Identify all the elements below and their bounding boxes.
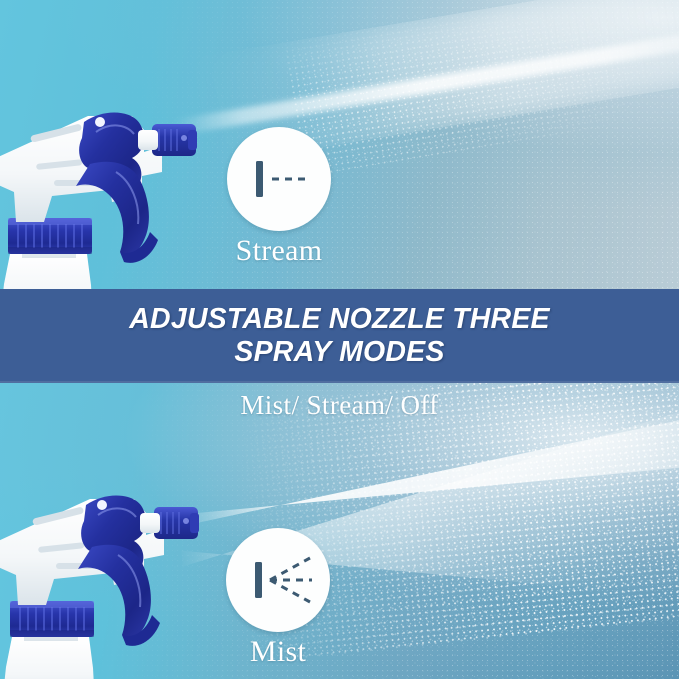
trigger-pivot-dot bbox=[95, 117, 105, 127]
modes-subtitle: Mist/ Stream/ Off bbox=[0, 390, 679, 421]
collar-ring bbox=[8, 218, 92, 254]
headline-line-1: ADJUSTABLE NOZZLE THREE bbox=[129, 303, 550, 336]
stream-mode-badge: Stream bbox=[215, 127, 343, 268]
headline-line-2: SPRAY MODES bbox=[234, 336, 444, 369]
mist-badge-circle bbox=[226, 528, 330, 632]
stream-label: Stream bbox=[215, 234, 343, 268]
bottle-body bbox=[2, 637, 95, 679]
mist-mode-badge: Mist bbox=[214, 528, 342, 669]
spray-bottle-top bbox=[0, 72, 232, 322]
mist-icon bbox=[226, 528, 330, 632]
collar-ring bbox=[10, 601, 94, 637]
headline-banner: ADJUSTABLE NOZZLE THREE SPRAY MODES bbox=[0, 289, 679, 383]
product-feature-image: Stream Mist ADJUSTABLE NOZZLE THREE SPRA… bbox=[0, 0, 679, 679]
mist-label: Mist bbox=[214, 635, 342, 669]
spray-bottle-bottom bbox=[0, 455, 234, 679]
nozzle bbox=[154, 507, 199, 539]
stream-badge-circle bbox=[227, 127, 331, 231]
stream-icon bbox=[227, 127, 331, 231]
trigger-pivot-dot bbox=[97, 500, 107, 510]
nozzle-barrel bbox=[140, 513, 160, 533]
spray-bottle-illustration bbox=[0, 72, 232, 322]
spray-bottle-illustration bbox=[0, 455, 234, 679]
nozzle-barrel bbox=[138, 130, 158, 150]
nozzle bbox=[152, 124, 197, 156]
